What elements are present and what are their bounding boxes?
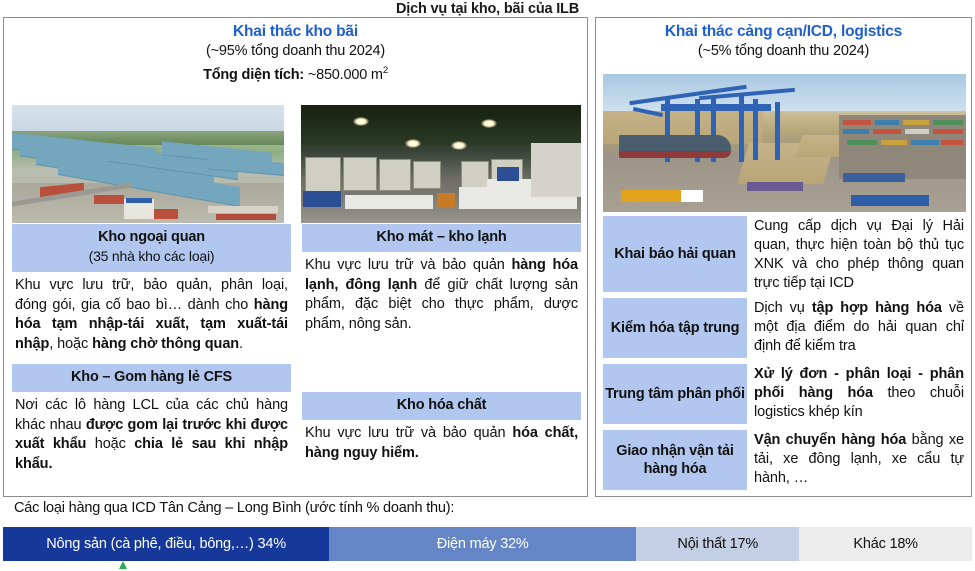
card-header-kho-hoa-chat: Kho hóa chất — [302, 392, 581, 420]
service-row: Kiểm hóa tập trung Dịch vụ tập hợp hàng … — [603, 298, 966, 358]
cargo-mix-stacked-bar: Nông sản (cà phê, điều, bông,…) 34%Điện … — [3, 527, 972, 561]
service-label-kiem-hoa-tap-trung: Kiểm hóa tập trung — [603, 298, 747, 358]
warehouse-total-area-label: Tổng diện tích: — [203, 67, 304, 83]
aerial-warehouse-photo — [12, 105, 284, 223]
icd-logistics-panel: Khai thác cảng cạn/ICD, logistics (~5% t… — [595, 17, 972, 497]
service-label-giao-nhan-van-tai: Giao nhận vận tải hàng hóa — [603, 430, 747, 490]
cargo-segment-4: Khác 18% — [799, 527, 972, 561]
card-body-kho-cfs: Nơi các lô hàng LCL của các chủ hàng khá… — [12, 392, 291, 476]
warehouse-total-area: Tổng diện tích: ~850.000 m2 — [4, 61, 587, 85]
green-pointer-marker — [119, 561, 127, 569]
card-header-kho-cfs: Kho – Gom hàng lẻ CFS — [12, 364, 291, 392]
cargo-segment-1: Nông sản (cà phê, điều, bông,…) 34% — [3, 527, 329, 561]
service-desc-khai-bao-hai-quan: Cung cấp dịch vụ Đại lý Hải quan, thực h… — [747, 216, 966, 292]
cargo-segment-2: Điện máy 32% — [329, 527, 636, 561]
card-body-kho-hoa-chat: Khu vực lưu trữ và bảo quản hóa chất, hà… — [302, 420, 581, 465]
card-header-kho-ngoai-quan: Kho ngoại quan (35 nhà kho các loại) — [12, 224, 291, 272]
warehouse-panel-subheading: (~95% tổng doanh thu 2024) — [4, 42, 587, 61]
card-title: Kho hóa chất — [397, 397, 486, 413]
service-row: Trung tâm phân phối Xử lý đơn - phân loạ… — [603, 364, 966, 424]
service-label-khai-bao-hai-quan: Khai báo hải quan — [603, 216, 747, 292]
square-meter-superscript: 2 — [383, 65, 388, 76]
service-desc-kiem-hoa-tap-trung: Dịch vụ tập hợp hàng hóa về một địa điểm… — [747, 298, 966, 358]
warehouse-panel-heading: Khai thác kho bãi — [4, 22, 587, 42]
container-port-photo — [603, 74, 966, 212]
icd-services-list: Khai báo hải quan Cung cấp dịch vụ Đại l… — [603, 216, 966, 496]
icd-panel-header: Khai thác cảng cạn/ICD, logistics (~5% t… — [596, 18, 971, 61]
card-title: Kho ngoại quan — [98, 229, 205, 245]
warehouse-interior-photo — [301, 105, 581, 223]
card-header-kho-mat-kho-lanh: Kho mát – kho lạnh — [302, 224, 581, 252]
service-desc-trung-tam-phan-phoi: Xử lý đơn - phân loại - phân phối hàng h… — [747, 364, 966, 424]
service-row: Khai báo hải quan Cung cấp dịch vụ Đại l… — [603, 216, 966, 292]
warehouse-card-column-2: Kho mát – kho lạnh Khu vực lưu trữ và bả… — [302, 224, 581, 476]
panels-container: Khai thác kho bãi (~95% tổng doanh thu 2… — [3, 17, 972, 497]
warehouse-cards-grid: Kho ngoại quan (35 nhà kho các loại) Khu… — [12, 224, 581, 476]
service-row: Giao nhận vận tải hàng hóa Vận chuyển hà… — [603, 430, 966, 490]
warehouse-total-area-value: ~850.000 m — [304, 67, 383, 83]
service-label-trung-tam-phan-phoi: Trung tâm phân phối — [603, 364, 747, 424]
card-body-kho-ngoai-quan: Khu vực lưu trữ, bảo quản, phân loại, đó… — [12, 272, 291, 356]
cargo-mix-label: Các loại hàng qua ICD Tân Cảng – Long Bì… — [14, 500, 454, 516]
warehouse-panel-header: Khai thác kho bãi (~95% tổng doanh thu 2… — [4, 18, 587, 85]
card-title: Kho mát – kho lạnh — [376, 229, 506, 245]
icd-panel-heading: Khai thác cảng cạn/ICD, logistics — [596, 22, 971, 42]
service-desc-giao-nhan-van-tai: Vận chuyển hàng hóa bằng xe tải, xe đông… — [747, 430, 966, 490]
card-title: Kho – Gom hàng lẻ CFS — [71, 369, 232, 385]
warehouse-operations-panel: Khai thác kho bãi (~95% tổng doanh thu 2… — [3, 17, 588, 497]
cargo-segment-3: Nội thất 17% — [636, 527, 799, 561]
icd-panel-subheading: (~5% tổng doanh thu 2024) — [596, 42, 971, 61]
card-subtitle: (35 nhà kho các loại) — [89, 248, 215, 264]
warehouse-card-column-1: Kho ngoại quan (35 nhà kho các loại) Khu… — [12, 224, 291, 476]
card-body-kho-mat-kho-lanh: Khu vực lưu trữ và bảo quản hàng hóa lạn… — [302, 252, 581, 336]
page-title: Dịch vụ tại kho, bãi của ILB — [0, 0, 975, 18]
